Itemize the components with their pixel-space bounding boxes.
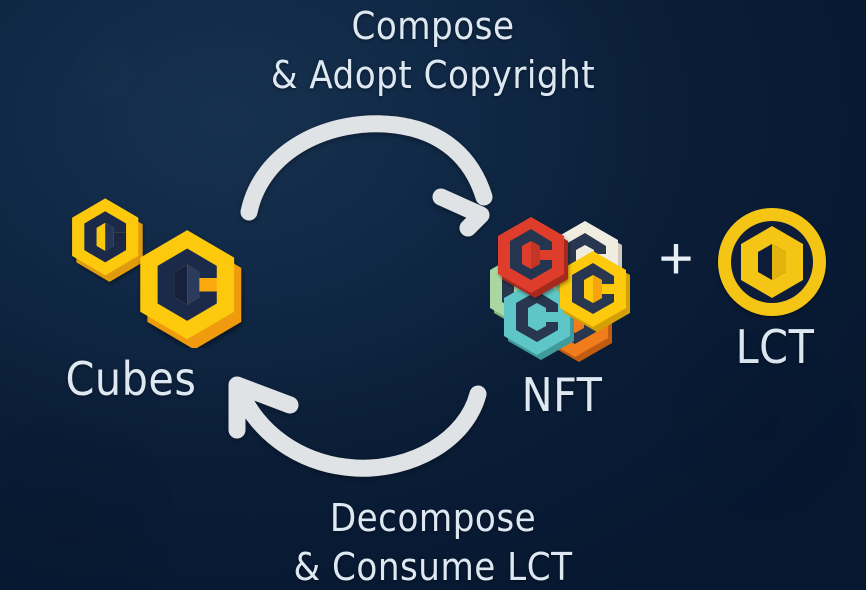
cube-hexagon-logo-small — [72, 198, 143, 282]
diagram-canvas: Cubes — [0, 0, 866, 590]
caption-compose: Compose & Adopt Copyright — [0, 2, 866, 99]
caption-compose-line2: & Adopt Copyright — [0, 51, 866, 100]
node-nft[interactable] — [480, 212, 650, 372]
node-lct[interactable] — [716, 206, 828, 318]
caption-decompose-line2: & Consume LCT — [0, 543, 866, 590]
node-cubes[interactable] — [48, 188, 288, 348]
cubes-icon-group — [48, 188, 288, 348]
caption-decompose: Decompose & Consume LCT — [0, 494, 866, 590]
caption-compose-line1: Compose — [0, 2, 866, 51]
lct-coin-icon — [716, 206, 828, 318]
lct-label: LCT — [700, 320, 850, 374]
nft-label: NFT — [492, 368, 632, 422]
cube-hexagon-logo-large — [140, 230, 241, 348]
cubes-label: Cubes — [36, 352, 226, 406]
nft-hexagon-cluster-icon — [480, 212, 650, 372]
caption-decompose-line1: Decompose — [0, 494, 866, 543]
decompose-arrow — [237, 385, 478, 468]
plus-icon: + — [648, 232, 704, 288]
